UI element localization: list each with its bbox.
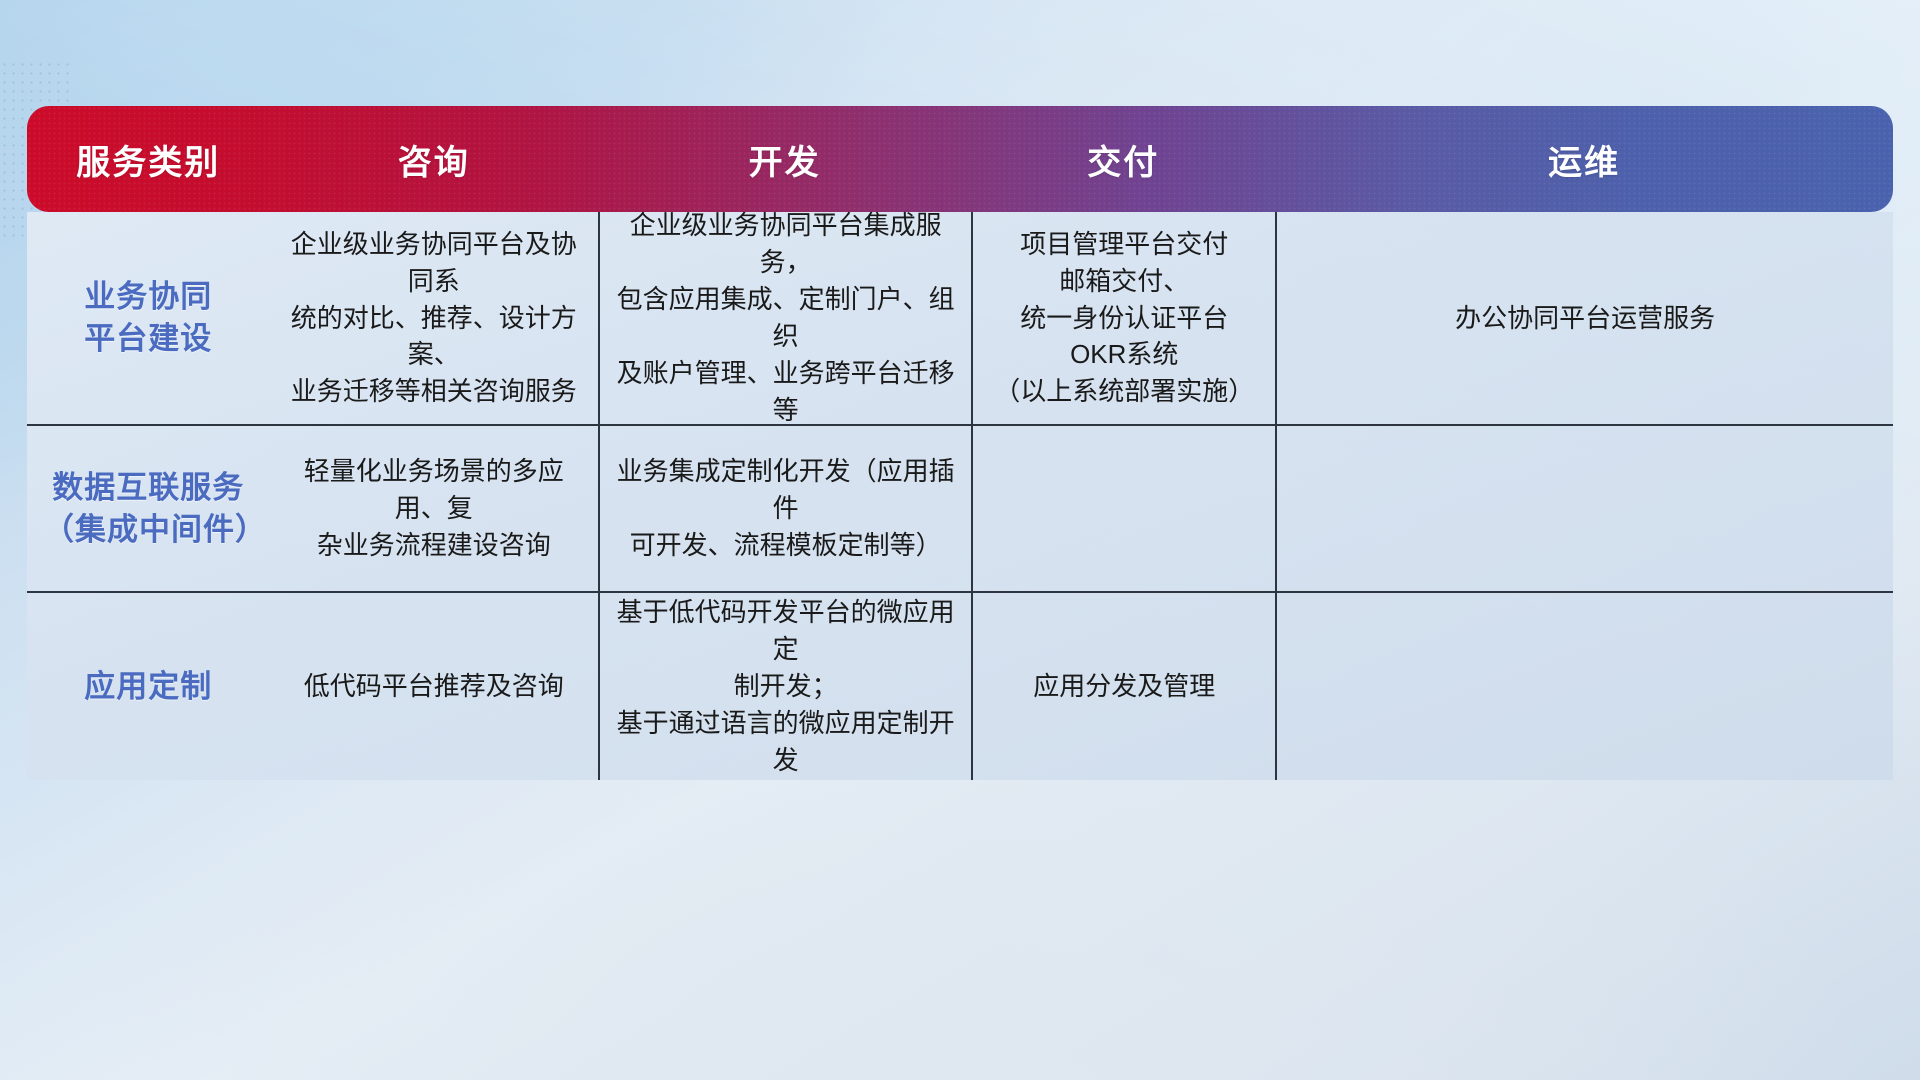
column-header-development-label: 开发 bbox=[749, 135, 821, 184]
table-row: 数据互联服务 （集成中间件） 轻量化业务场景的多应用、复 杂业务流程建设咨询 业… bbox=[27, 424, 1893, 591]
cell-operations bbox=[1275, 426, 1893, 591]
cell-category: 数据互联服务 （集成中间件） bbox=[27, 426, 270, 591]
cell-category-text: 应用定制 bbox=[84, 666, 212, 708]
cell-consulting-text: 企业级业务协同平台及协同系 统的对比、推荐、设计方案、 业务迁移等相关咨询服务 bbox=[286, 226, 582, 411]
table-row: 应用定制 低代码平台推荐及咨询 基于低代码开发平台的微应用定 制开发； 基于通过… bbox=[27, 591, 1893, 780]
cell-development-text: 基于低代码开发平台的微应用定 制开发； 基于通过语言的微应用定制开发 bbox=[616, 594, 955, 779]
table-header-row: 服务类别 咨询 开发 交付 运维 bbox=[27, 106, 1893, 212]
cell-development: 业务集成定制化开发（应用插件 可开发、流程模板定制等） bbox=[598, 426, 971, 591]
cell-delivery: 项目管理平台交付 邮箱交付、 统一身份认证平台 OKR系统 （以上系统部署实施） bbox=[971, 212, 1275, 424]
column-header-development: 开发 bbox=[598, 106, 971, 212]
column-header-category: 服务类别 bbox=[27, 106, 270, 212]
table-body: 业务协同 平台建设 企业级业务协同平台及协同系 统的对比、推荐、设计方案、 业务… bbox=[27, 212, 1893, 780]
column-header-delivery-label: 交付 bbox=[1087, 135, 1159, 184]
cell-consulting: 企业级业务协同平台及协同系 统的对比、推荐、设计方案、 业务迁移等相关咨询服务 bbox=[270, 212, 598, 424]
cell-category-text: 业务协同 平台建设 bbox=[84, 276, 212, 359]
service-matrix-table: 服务类别 咨询 开发 交付 运维 业务协同 平台建设 企业级业务协同平台及协同系… bbox=[27, 106, 1893, 780]
cell-consulting-text: 低代码平台推荐及咨询 bbox=[304, 668, 564, 705]
cell-delivery: 应用分发及管理 bbox=[971, 593, 1275, 780]
cell-development-text: 业务集成定制化开发（应用插件 可开发、流程模板定制等） bbox=[616, 453, 955, 564]
cell-operations-text: 办公协同平台运营服务 bbox=[1455, 300, 1715, 337]
column-header-consulting-label: 咨询 bbox=[398, 135, 470, 184]
cell-development-text: 企业级业务协同平台集成服务， 包含应用集成、定制门户、组织 及账户管理、业务跨平… bbox=[616, 207, 955, 428]
cell-development: 基于低代码开发平台的微应用定 制开发； 基于通过语言的微应用定制开发 bbox=[598, 593, 971, 780]
cell-category: 业务协同 平台建设 bbox=[27, 212, 270, 424]
cell-consulting-text: 轻量化业务场景的多应用、复 杂业务流程建设咨询 bbox=[286, 453, 582, 564]
column-header-consulting: 咨询 bbox=[270, 106, 598, 212]
column-header-delivery: 交付 bbox=[971, 106, 1275, 212]
cell-category: 应用定制 bbox=[27, 593, 270, 780]
table-row: 业务协同 平台建设 企业级业务协同平台及协同系 统的对比、推荐、设计方案、 业务… bbox=[27, 212, 1893, 424]
cell-operations: 办公协同平台运营服务 bbox=[1275, 212, 1893, 424]
column-header-operations-label: 运维 bbox=[1548, 135, 1620, 184]
cell-category-text: 数据互联服务 （集成中间件） bbox=[43, 467, 254, 550]
column-header-category-label: 服务类别 bbox=[76, 135, 220, 184]
cell-delivery-text: 项目管理平台交付 邮箱交付、 统一身份认证平台 OKR系统 （以上系统部署实施） bbox=[994, 226, 1254, 411]
cell-delivery-text: 应用分发及管理 bbox=[1033, 668, 1215, 705]
cell-consulting: 轻量化业务场景的多应用、复 杂业务流程建设咨询 bbox=[270, 426, 598, 591]
cell-consulting: 低代码平台推荐及咨询 bbox=[270, 593, 598, 780]
cell-operations bbox=[1275, 593, 1893, 780]
cell-development: 企业级业务协同平台集成服务， 包含应用集成、定制门户、组织 及账户管理、业务跨平… bbox=[598, 212, 971, 424]
column-header-operations: 运维 bbox=[1275, 106, 1893, 212]
cell-delivery bbox=[971, 426, 1275, 591]
